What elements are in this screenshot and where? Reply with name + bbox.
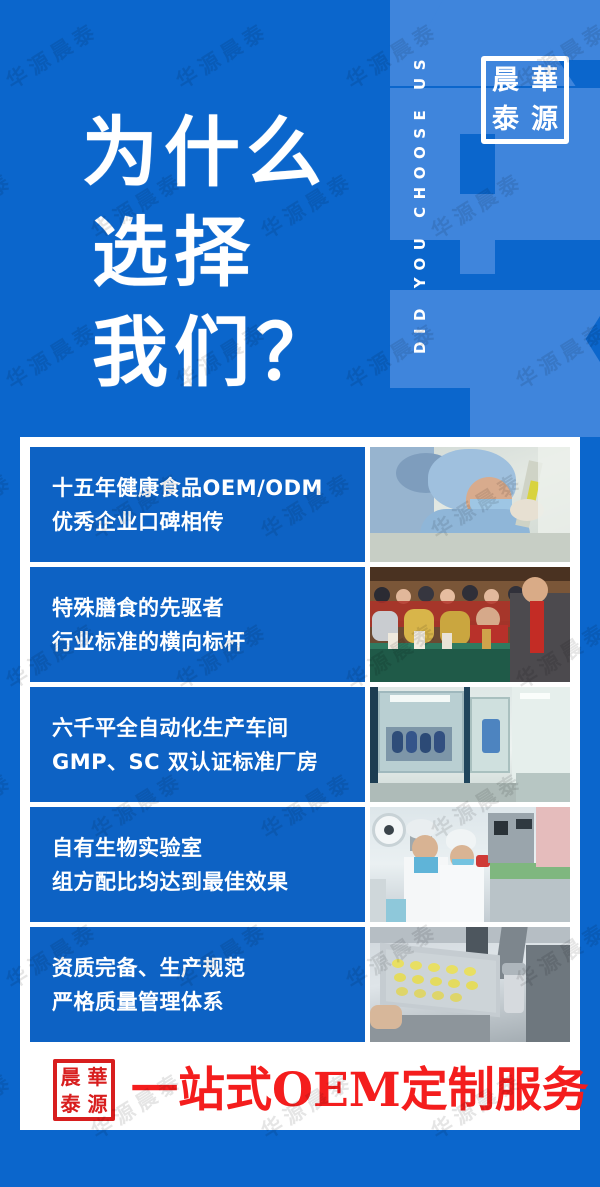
title-line-2: 选择 <box>82 203 382 303</box>
seal-char-2: 華 <box>525 61 564 100</box>
company-seal-logo-white: 晨 華 泰 源 <box>481 56 569 144</box>
feature-card[interactable]: 自有生物实验室 组方配比均达到最佳效果 <box>30 807 570 922</box>
feature-line-2: 严格质量管理体系 <box>52 985 365 1019</box>
feature-card-text: 特殊膳食的先驱者 行业标准的横向标杆 <box>30 567 365 682</box>
seal-char-3: 泰 <box>486 100 525 139</box>
seal-char-4: 源 <box>525 100 564 139</box>
feature-line-2: 优秀企业口碑相传 <box>52 505 365 539</box>
feature-line-2: GMP、SC 双认证标准厂房 <box>52 745 365 779</box>
feature-line-1: 特殊膳食的先驱者 <box>52 591 365 625</box>
page-title: 为什么 选择 我们？ <box>82 103 382 403</box>
feature-card-list: 十五年健康食品OEM/ODM 优秀企业口碑相传 特殊膳食的先驱者 <box>30 447 570 1042</box>
watermark-text: 华源晨泰 <box>595 1065 600 1146</box>
feature-photo-packaging-line <box>370 807 570 922</box>
seal-frame: 晨 華 泰 源 <box>481 56 569 144</box>
feature-card-text: 六千平全自动化生产车间 GMP、SC 双认证标准厂房 <box>30 687 365 802</box>
watermark-text: 华源晨泰 <box>595 465 600 546</box>
vertical-english-text: DID YOU CHOOSE US <box>411 52 429 354</box>
banner-slogan: 一站式OEM定制服务 <box>131 1067 589 1114</box>
feature-card-text: 资质完备、生产规范 严格质量管理体系 <box>30 927 365 1042</box>
hero-section: 为什么 选择 我们？ DID YOU CHOOSE US 晨 華 泰 源 <box>0 0 600 437</box>
seal-char-1: 晨 <box>57 1063 84 1090</box>
watermark-text: 华源晨泰 <box>595 765 600 846</box>
seal-frame: 晨 華 泰 源 <box>53 1059 115 1121</box>
feature-line-1: 资质完备、生产规范 <box>52 951 365 985</box>
features-panel: 十五年健康食品OEM/ODM 优秀企业口碑相传 特殊膳食的先驱者 <box>20 437 580 1130</box>
seal-char-1: 晨 <box>486 61 525 100</box>
feature-line-1: 十五年健康食品OEM/ODM <box>52 471 365 505</box>
seal-char-3: 泰 <box>57 1090 84 1117</box>
feature-photo-conference-audience <box>370 567 570 682</box>
feature-card[interactable]: 十五年健康食品OEM/ODM 优秀企业口碑相传 <box>30 447 570 562</box>
feature-card[interactable]: 资质完备、生产规范 严格质量管理体系 <box>30 927 570 1042</box>
seal-char-4: 源 <box>84 1090 111 1117</box>
watermark-text: 华源晨泰 <box>0 1065 19 1146</box>
feature-card[interactable]: 特殊膳食的先驱者 行业标准的横向标杆 <box>30 567 570 682</box>
feature-photo-production-workshop <box>370 687 570 802</box>
company-seal-logo-red: 晨 華 泰 源 <box>53 1059 115 1121</box>
feature-card-text: 自有生物实验室 组方配比均达到最佳效果 <box>30 807 365 922</box>
feature-line-2: 行业标准的横向标杆 <box>52 625 365 659</box>
feature-photo-lab-technician <box>370 447 570 562</box>
feature-photo-blister-packaging <box>370 927 570 1042</box>
seal-char-2: 華 <box>84 1063 111 1090</box>
title-line-1: 为什么 <box>82 103 382 203</box>
feature-line-1: 自有生物实验室 <box>52 831 365 865</box>
watermark-text: 华源晨泰 <box>0 765 19 846</box>
feature-line-2: 组方配比均达到最佳效果 <box>52 865 365 899</box>
watermark-text: 华源晨泰 <box>0 465 19 546</box>
feature-card[interactable]: 六千平全自动化生产车间 GMP、SC 双认证标准厂房 <box>30 687 570 802</box>
bottom-banner: 晨 華 泰 源 一站式OEM定制服务 <box>20 1050 580 1130</box>
title-line-3: 我们？ <box>82 303 382 403</box>
feature-line-1: 六千平全自动化生产车间 <box>52 711 365 745</box>
feature-card-text: 十五年健康食品OEM/ODM 优秀企业口碑相传 <box>30 447 365 562</box>
vertical-english-tagline: DID YOU CHOOSE US <box>409 8 431 398</box>
